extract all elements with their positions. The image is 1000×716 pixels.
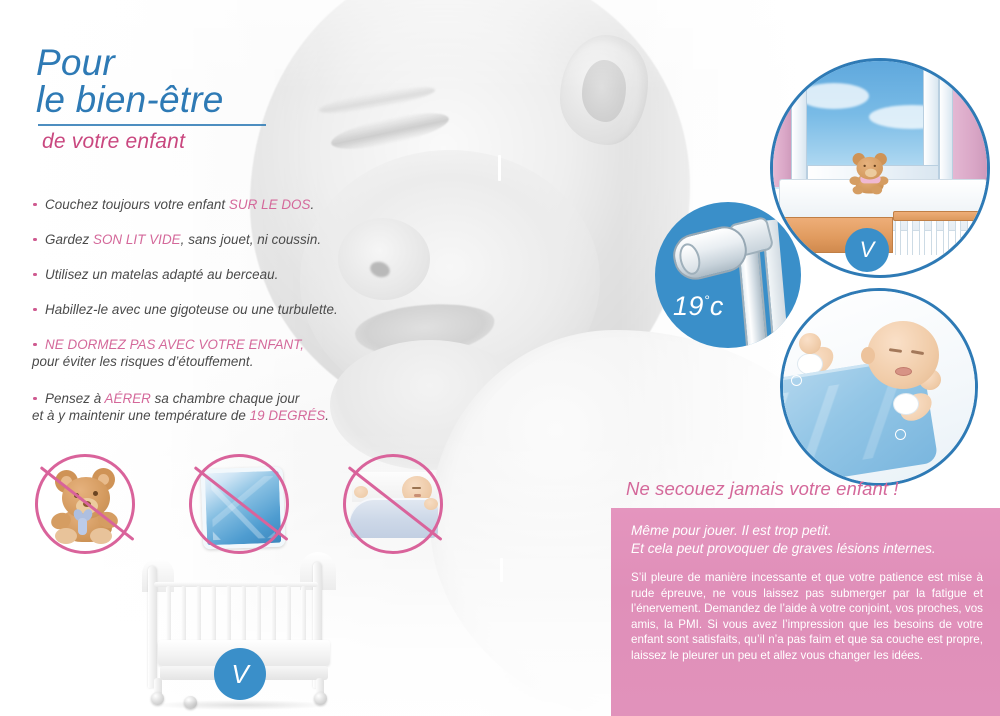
shake-warning-title: Ne secouez jamais votre enfant !	[626, 478, 986, 500]
crib-check-badge: V	[214, 648, 266, 700]
bullet-text-pre: Utilisez un matelas adapté au berceau.	[45, 267, 278, 282]
circle-baby-sleeping-bag	[780, 288, 978, 486]
list-item: Utilisez un matelas adapté au berceau.	[32, 266, 362, 283]
shake-warning-panel: Même pour jouer. Il est trop petit. Et c…	[611, 508, 1000, 716]
list-item: Gardez SON LIT VIDE, sans jouet, ni cous…	[32, 231, 362, 248]
bullet-highlight: NE DORMEZ PAS AVEC VOTRE ENFANT	[45, 337, 300, 352]
bullet-highlight: SON LIT VIDE	[93, 232, 181, 247]
thermostatic-valve	[673, 214, 769, 276]
bullet-text-pre: Couchez toujours votre enfant	[45, 197, 229, 212]
window-curtain-right	[951, 79, 990, 189]
window-cloud	[799, 83, 869, 109]
valve-knob	[669, 222, 752, 285]
cot-slats	[895, 221, 989, 255]
title-divider	[38, 124, 266, 126]
bullet-text-post: sa chambre chaque jour	[151, 391, 300, 406]
crib-illustration: V	[140, 560, 340, 712]
sleeper-head	[867, 321, 939, 389]
page-title-line1: Pour	[36, 44, 336, 81]
circle-radiator-temperature: 19°c	[655, 202, 801, 348]
photo-tick-mark-upper	[498, 155, 501, 181]
sleeper-sleeve-right	[893, 393, 919, 415]
shake-warning-lead: Même pour jouer. Il est trop petit. Et c…	[631, 522, 981, 557]
shake-lead-line2: Et cela peut provoquer de graves lésions…	[631, 540, 981, 558]
cot-teddy-arm-left	[849, 176, 860, 185]
bullet-text-post: , sans jouet, ni coussin.	[181, 232, 321, 247]
list-item: Couchez toujours votre enfant SUR LE DOS…	[32, 196, 362, 213]
bullet-line2: et à y maintenir une température de 19 D…	[32, 407, 362, 424]
no-teddy-bear-icon	[30, 452, 148, 558]
bullet-line2-post: .	[325, 408, 329, 423]
sleeping-bag-tie-right	[895, 429, 906, 440]
bullet-text-pre: Gardez	[45, 232, 93, 247]
bullet-line2-highlight: 19 DEGRÉS	[250, 408, 326, 423]
bullet-text-pre: Pensez à	[45, 391, 105, 406]
sleeper-ear	[861, 347, 875, 364]
poster-root: Pour le bien-être de votre enfant Couche…	[0, 0, 1000, 716]
list-item: NE DORMEZ PAS AVEC VOTRE ENFANT, pour év…	[32, 336, 362, 370]
temperature-value: 19	[673, 291, 704, 321]
crib-top-rail	[154, 582, 318, 587]
sleeper-mouth	[895, 367, 912, 376]
page-title-line2: le bien-être	[36, 81, 336, 118]
cot-wood-rail	[893, 211, 989, 221]
crib-shadow	[154, 700, 330, 710]
window-check-badge: V	[845, 228, 889, 272]
advice-list: Couchez toujours votre enfant SUR LE DOS…	[32, 196, 362, 444]
cot-teddy-snout	[865, 169, 877, 178]
window-sash-open	[939, 67, 953, 183]
sleeper-fist-left	[799, 333, 821, 354]
cot-teddy-foot-left	[853, 186, 864, 195]
temperature-label: 19°c	[673, 286, 783, 320]
bullet-text-post: ,	[300, 337, 304, 352]
window-frame-left	[791, 67, 807, 183]
bullet-line2: pour éviter les risques d’étouffement.	[32, 353, 362, 370]
forbidden-icons-row	[30, 452, 490, 562]
page-header: Pour le bien-être de votre enfant	[36, 44, 336, 154]
bullet-text-pre: Habillez-le avec une gigoteuse ou une tu…	[45, 302, 338, 317]
temperature-unit: c	[710, 291, 724, 321]
cot-teddy-bear	[851, 153, 888, 194]
shake-lead-line1: Même pour jouer. Il est trop petit.	[631, 522, 981, 540]
no-duvet-icon	[338, 452, 456, 558]
bullet-highlight: AÉRER	[105, 391, 151, 406]
photo-tick-mark-lower	[500, 558, 503, 582]
sleeping-bag-tie-left	[791, 375, 802, 386]
list-item: Habillez-le avec une gigoteuse ou une tu…	[32, 301, 362, 318]
list-item: Pensez à AÉRER sa chambre chaque jour et…	[32, 390, 362, 424]
page-subtitle: de votre enfant	[36, 130, 336, 154]
shake-warning-body: S’il pleure de manière incessante et que…	[631, 570, 983, 664]
cot-teddy-foot-right	[871, 186, 882, 195]
bullet-text-post: .	[310, 197, 314, 212]
bullet-line2-pre: et à y maintenir une température de	[32, 408, 250, 423]
no-pillow-icon	[184, 452, 302, 558]
bullet-highlight: SUR LE DOS	[229, 197, 311, 212]
